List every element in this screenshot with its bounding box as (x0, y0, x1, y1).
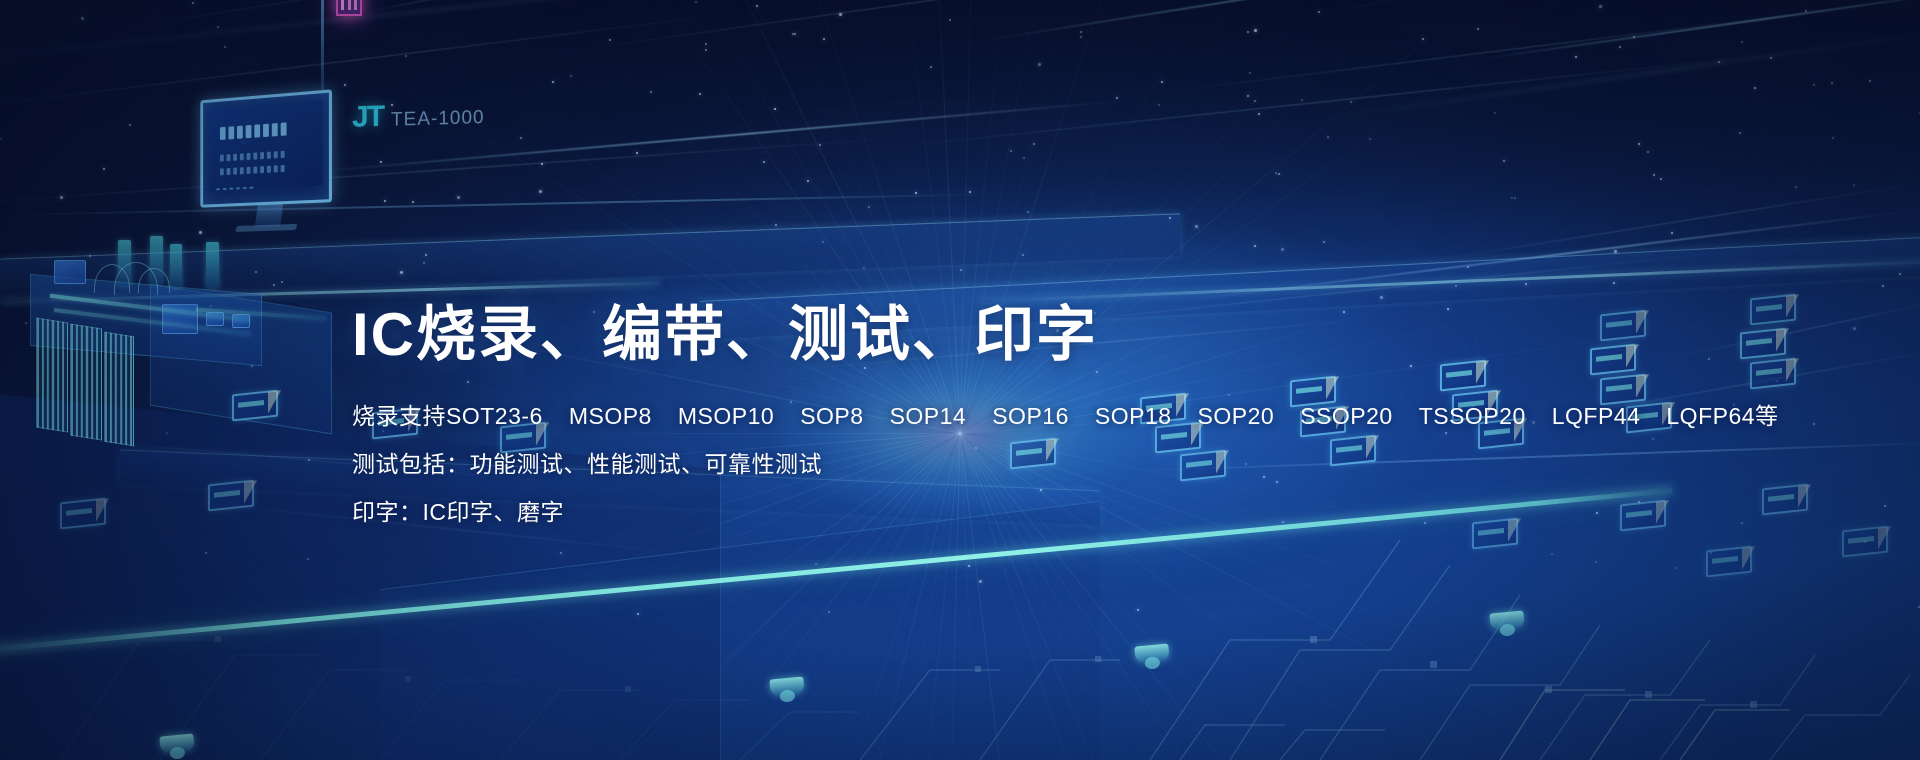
ic-service-banner: JT TEA-1000 IC烧录、编带、测试、印字 烧录支持SOT23-6MSO (0, 0, 1920, 760)
package-type-9: TSSOP20 (1419, 403, 1526, 429)
package-type-7: SOP20 (1198, 403, 1275, 429)
package-type-list: SOT23-6MSOP8MSOP10SOP8SOP14SOP16SOP18SOP… (446, 405, 1779, 428)
banner-headline: IC烧录、编带、测试、印字 (352, 300, 1652, 369)
package-type-8: SSOP20 (1300, 403, 1393, 429)
list-item-marking-scope: 印字：IC印字、磨字 (352, 501, 1652, 524)
banner-content: IC烧录、编带、测试、印字 烧录支持SOT23-6MSOP8MSOP10SOP8… (352, 300, 1652, 524)
service-detail-list: 烧录支持SOT23-6MSOP8MSOP10SOP8SOP14SOP16SOP1… (352, 405, 1652, 524)
package-type-2: MSOP10 (678, 403, 774, 429)
package-type-4: SOP14 (890, 403, 967, 429)
list-item-test-scope: 测试包括：功能测试、性能测试、可靠性测试 (352, 453, 1652, 476)
package-type-6: SOP18 (1095, 403, 1172, 429)
list-item-burn-support: 烧录支持SOT23-6MSOP8MSOP10SOP8SOP14SOP16SOP1… (352, 405, 1652, 428)
package-type-0: SOT23-6 (446, 403, 543, 429)
package-type-1: MSOP8 (569, 403, 652, 429)
package-type-5: SOP16 (992, 403, 1069, 429)
package-type-3: SOP8 (800, 403, 863, 429)
package-type-11: LQFP64等 (1666, 403, 1778, 429)
package-type-10: LQFP44 (1552, 403, 1641, 429)
burn-support-prefix: 烧录支持 (352, 403, 446, 429)
